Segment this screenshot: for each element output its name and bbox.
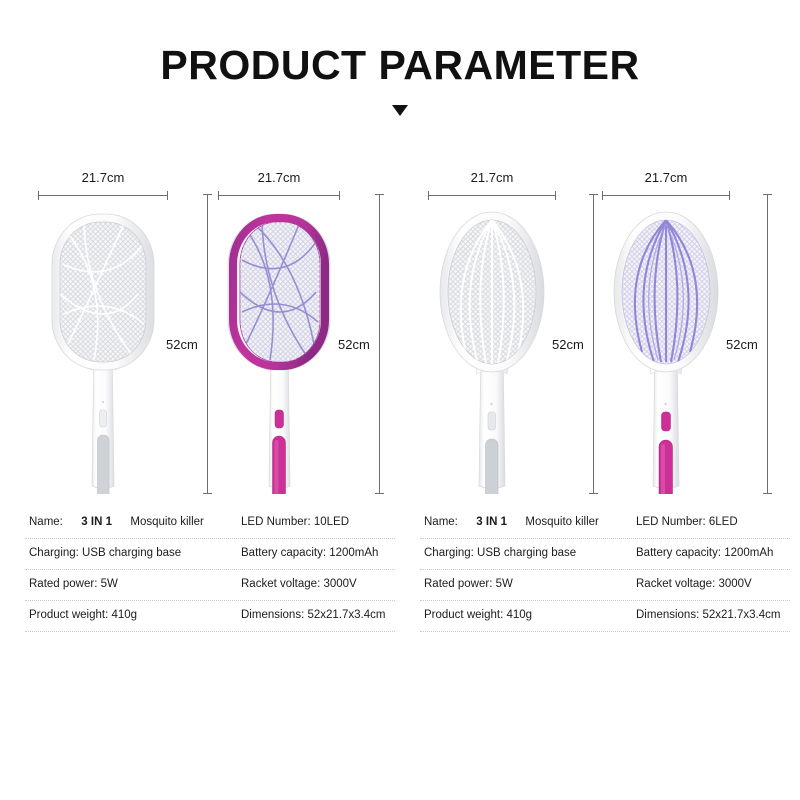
height-dimension-2: 52cm	[338, 194, 396, 494]
height-dimension-label-4: 52cm	[726, 337, 763, 352]
spec-name-bold: 3 IN 1	[81, 516, 112, 528]
racket-svg-white-10led	[38, 194, 168, 494]
spec-name-suffix: Mosquito killer	[130, 516, 204, 528]
table-row: Charging: USB charging base Battery capa…	[420, 539, 790, 570]
height-dimension-line-4	[763, 194, 772, 494]
spec-cell-rated-power: Rated power: 5W	[420, 579, 632, 591]
racket-image-4	[602, 194, 730, 494]
spec-cell-charging: Charging: USB charging base	[420, 548, 632, 560]
width-dimension-label-4: 21.7cm	[602, 170, 730, 185]
spec-cell-battery-capacity: Battery capacity: 1200mAh	[237, 548, 395, 560]
table-row: Rated power: 5W Racket voltage: 3000V	[25, 570, 395, 601]
spec-cell-rated-power: Rated power: 5W	[25, 579, 237, 591]
height-dimension-4: 52cm	[726, 194, 784, 494]
spec-name-prefix: Name:	[29, 516, 63, 528]
spec-cell-dimensions: Dimensions: 52x21.7x3.4cm	[237, 610, 395, 622]
spec-cell-product-weight: Product weight: 410g	[25, 610, 237, 622]
spec-cell-racket-voltage: Racket voltage: 3000V	[237, 579, 395, 591]
racket-image-3	[428, 194, 556, 494]
spec-cell-dimensions: Dimensions: 52x21.7x3.4cm	[632, 610, 790, 622]
racket-svg-purple-6led	[602, 194, 730, 494]
product-gallery: 21.7cm	[0, 170, 800, 500]
spec-table-6led: Name: 3 IN 1 Mosquito killer LED Number:…	[420, 508, 790, 632]
spec-cell-led-number: LED Number: 10LED	[237, 517, 395, 529]
table-row: Rated power: 5W Racket voltage: 3000V	[420, 570, 790, 601]
height-dimension-line-2	[375, 194, 384, 494]
width-dimension-label-1: 21.7cm	[38, 170, 168, 185]
table-row: Name: 3 IN 1 Mosquito killer LED Number:…	[25, 508, 395, 539]
width-dimension-label-2: 21.7cm	[218, 170, 340, 185]
spec-cell-racket-voltage: Racket voltage: 3000V	[632, 579, 790, 591]
racket-image-1	[38, 194, 168, 494]
height-dimension-line-1	[203, 194, 212, 494]
product-parameter-page: PRODUCT PARAMETER 21.7cm	[0, 0, 800, 800]
spec-cell-name: Name: 3 IN 1 Mosquito killer	[420, 517, 632, 529]
spec-cell-led-number: LED Number: 6LED	[632, 517, 790, 529]
table-row: Name: 3 IN 1 Mosquito killer LED Number:…	[420, 508, 790, 539]
height-dimension-1: 52cm	[166, 194, 224, 494]
product-racket-white-10led[interactable]: 21.7cm	[38, 170, 168, 500]
spec-cell-product-weight: Product weight: 410g	[420, 610, 632, 622]
page-title: PRODUCT PARAMETER	[0, 44, 800, 87]
spec-name-bold: 3 IN 1	[476, 516, 507, 528]
racket-image-2	[218, 194, 340, 494]
table-row: Product weight: 410g Dimensions: 52x21.7…	[420, 601, 790, 632]
spec-name-prefix: Name:	[424, 516, 458, 528]
height-dimension-label-2: 52cm	[338, 337, 375, 352]
table-row: Product weight: 410g Dimensions: 52x21.7…	[25, 601, 395, 632]
spec-cell-battery-capacity: Battery capacity: 1200mAh	[632, 548, 790, 560]
spec-cell-charging: Charging: USB charging base	[25, 548, 237, 560]
product-racket-purple-6led[interactable]: 21.7cm	[602, 170, 730, 500]
page-header: PRODUCT PARAMETER	[0, 0, 800, 116]
height-dimension-label-1: 52cm	[166, 337, 203, 352]
racket-svg-purple-10led	[218, 194, 340, 494]
spec-cell-name: Name: 3 IN 1 Mosquito killer	[25, 517, 237, 529]
triangle-down-icon	[392, 105, 408, 116]
product-racket-purple-10led[interactable]: 21.7cm	[218, 170, 340, 500]
racket-svg-white-6led	[428, 194, 556, 494]
height-dimension-label-3: 52cm	[552, 337, 589, 352]
spec-table-10led: Name: 3 IN 1 Mosquito killer LED Number:…	[25, 508, 395, 632]
table-row: Charging: USB charging base Battery capa…	[25, 539, 395, 570]
height-dimension-line-3	[589, 194, 598, 494]
width-dimension-label-3: 21.7cm	[428, 170, 556, 185]
product-racket-white-6led[interactable]: 21.7cm	[428, 170, 556, 500]
spec-name-suffix: Mosquito killer	[525, 516, 599, 528]
